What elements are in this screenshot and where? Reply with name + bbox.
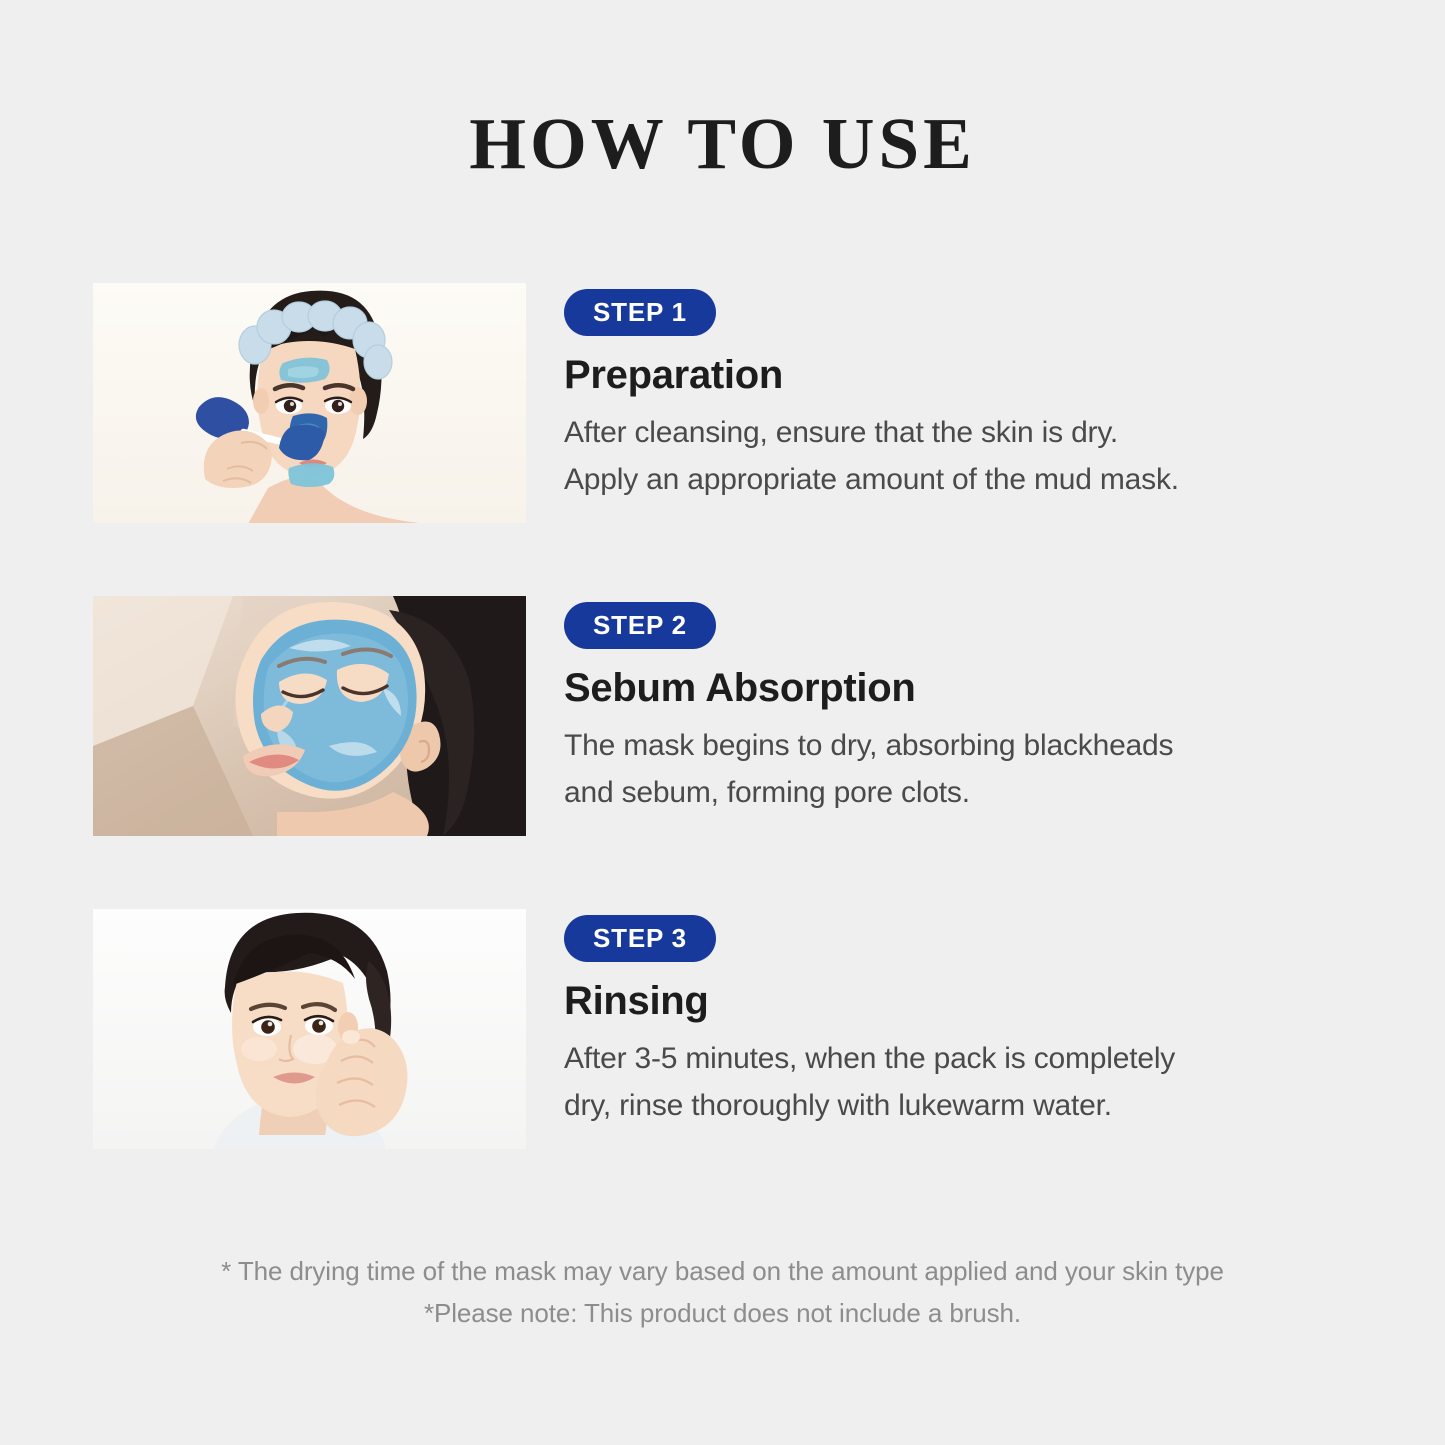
step-description-line: The mask begins to dry, absorbing blackh…	[564, 723, 1353, 770]
step-badge: STEP 1	[564, 289, 716, 336]
step-item: STEP 1 Preparation After cleansing, ensu…	[93, 283, 1353, 523]
step-item: STEP 3 Rinsing After 3-5 minutes, when t…	[93, 909, 1353, 1149]
footnote-line: *Please note: This product does not incl…	[0, 1292, 1445, 1334]
step-text-block: STEP 3 Rinsing After 3-5 minutes, when t…	[526, 909, 1353, 1130]
step-description: After 3-5 minutes, when the pack is comp…	[564, 1036, 1353, 1130]
step-item: STEP 2 Sebum Absorption The mask begins …	[93, 596, 1353, 836]
footnotes: * The drying time of the mask may vary b…	[0, 1250, 1445, 1334]
step-title: Rinsing	[564, 979, 1353, 1023]
step-badge: STEP 2	[564, 602, 716, 649]
step-photo-rinsing	[93, 909, 526, 1149]
step-title: Preparation	[564, 353, 1353, 397]
step-text-block: STEP 2 Sebum Absorption The mask begins …	[526, 596, 1353, 817]
step-photo-sebum-absorption	[93, 596, 526, 836]
step-description-line: After 3-5 minutes, when the pack is comp…	[564, 1036, 1353, 1083]
step-title: Sebum Absorption	[564, 666, 1353, 710]
step-description-line: Apply an appropriate amount of the mud m…	[564, 457, 1353, 504]
step-photo-preparation	[93, 283, 526, 523]
page-title: HOW TO USE	[0, 104, 1445, 184]
how-to-use-page: HOW TO USE	[0, 0, 1445, 1445]
step-description: The mask begins to dry, absorbing blackh…	[564, 723, 1353, 817]
step-description: After cleansing, ensure that the skin is…	[564, 410, 1353, 504]
steps-list: STEP 1 Preparation After cleansing, ensu…	[93, 283, 1353, 1149]
step-description-line: After cleansing, ensure that the skin is…	[564, 410, 1353, 457]
step-description-line: and sebum, forming pore clots.	[564, 770, 1353, 817]
step-badge: STEP 3	[564, 915, 716, 962]
step-description-line: dry, rinse thoroughly with lukewarm wate…	[564, 1083, 1353, 1130]
footnote-line: * The drying time of the mask may vary b…	[0, 1250, 1445, 1292]
step-text-block: STEP 1 Preparation After cleansing, ensu…	[526, 283, 1353, 504]
